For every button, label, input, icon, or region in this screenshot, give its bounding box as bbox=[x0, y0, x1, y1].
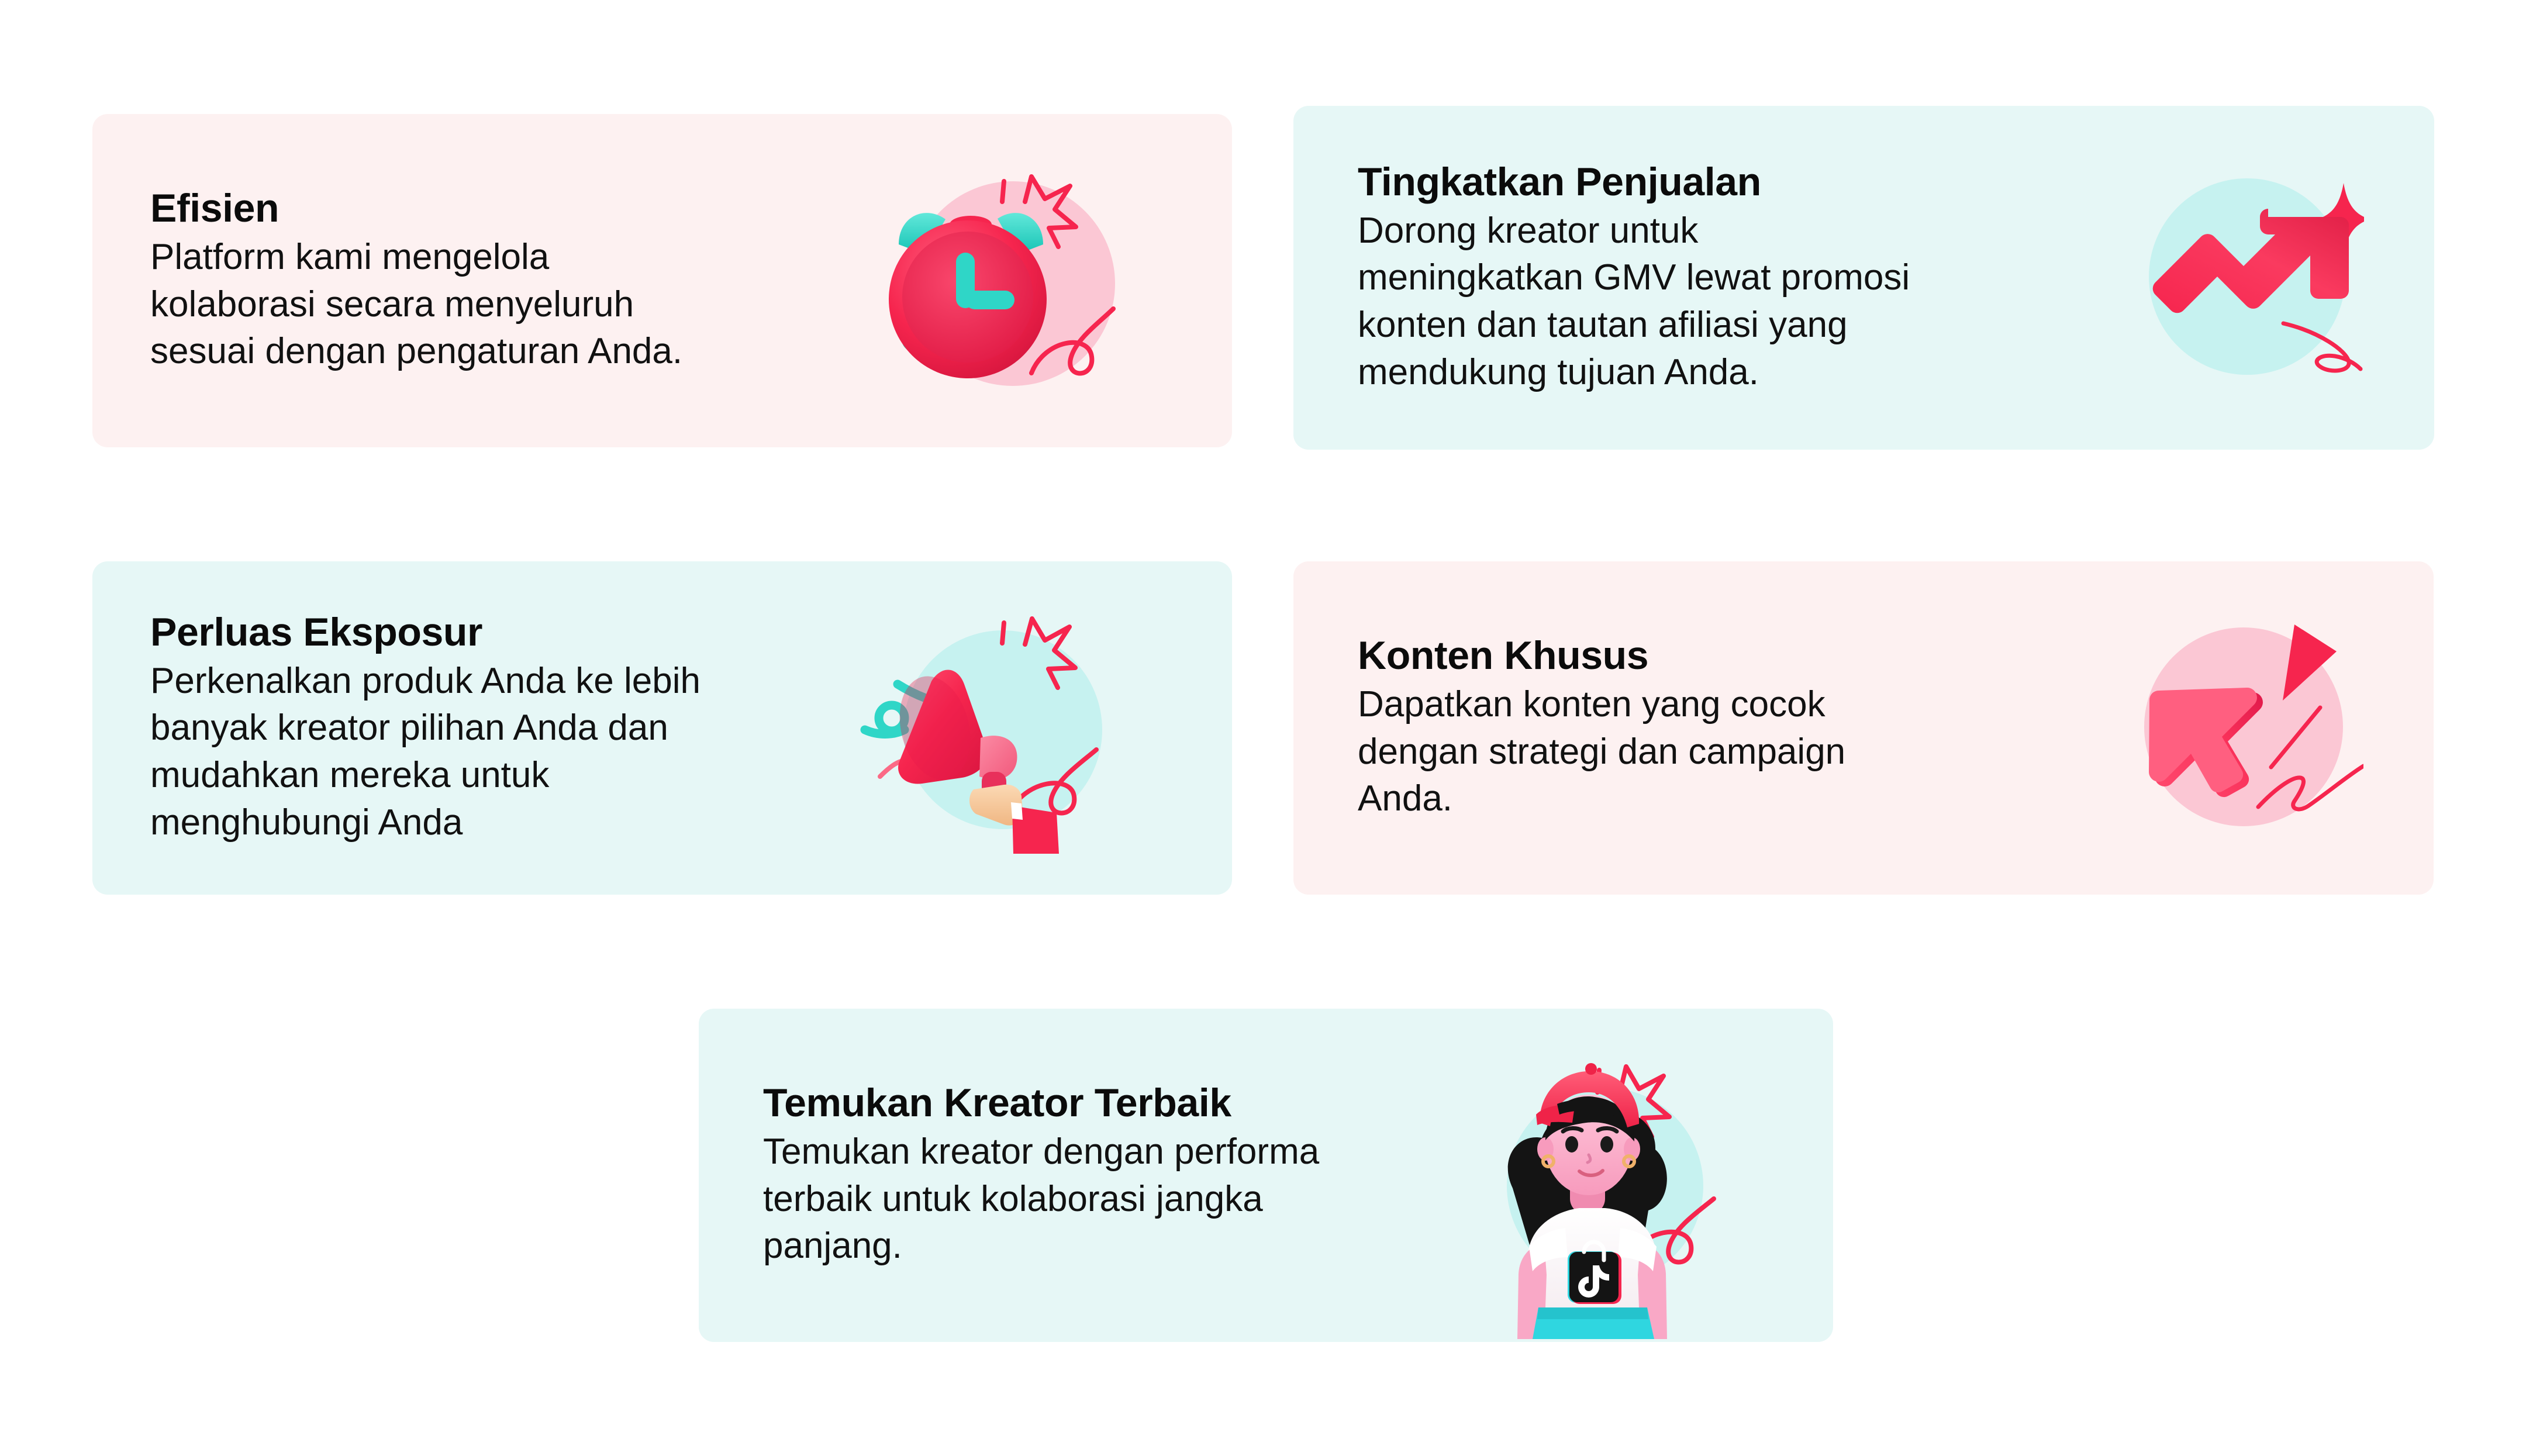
alarm-clock-icon bbox=[843, 146, 1136, 415]
feature-card-temukan-kreator-terbaik[interactable]: Temukan Kreator Terbaik Temukan kreator … bbox=[699, 1009, 1833, 1342]
card-title: Tingkatkan Penjualan bbox=[1358, 160, 2077, 204]
card-title: Efisien bbox=[150, 186, 840, 230]
card-description: Perkenalkan produk Anda ke lebih banyak … bbox=[150, 658, 852, 846]
card-text-block: Efisien Platform kami mengelola kolabora… bbox=[150, 186, 840, 375]
card-description: Dapatkan konten yang cocok dengan strate… bbox=[1358, 681, 2030, 823]
card-title: Konten Khusus bbox=[1358, 633, 2030, 678]
cursor-arrow-icon bbox=[2112, 607, 2363, 841]
growth-arrow-icon bbox=[2113, 153, 2364, 387]
feature-card-konten-khusus[interactable]: Konten Khusus Dapatkan konten yang cocok… bbox=[1293, 561, 2434, 895]
feature-card-grid: Efisien Platform kami mengelola kolabora… bbox=[0, 0, 2526, 1456]
card-text-block: Konten Khusus Dapatkan konten yang cocok… bbox=[1358, 633, 2030, 823]
creator-avatar-icon bbox=[1430, 1029, 1757, 1339]
card-text-block: Tingkatkan Penjualan Dorong kreator untu… bbox=[1358, 160, 2077, 396]
feature-card-efisien[interactable]: Efisien Platform kami mengelola kolabora… bbox=[92, 114, 1232, 447]
card-description: Platform kami mengelola kolaborasi secar… bbox=[150, 234, 840, 375]
card-description: Temukan kreator dengan performa terbaik … bbox=[763, 1129, 1465, 1270]
megaphone-icon bbox=[811, 579, 1138, 854]
feature-card-perluas-eksposur[interactable]: Perluas Eksposur Perkenalkan produk Anda… bbox=[92, 561, 1232, 895]
card-text-block: Temukan Kreator Terbaik Temukan kreator … bbox=[763, 1081, 1465, 1270]
card-title: Perluas Eksposur bbox=[150, 610, 852, 654]
card-text-block: Perluas Eksposur Perkenalkan produk Anda… bbox=[150, 610, 852, 847]
card-title: Temukan Kreator Terbaik bbox=[763, 1081, 1465, 1125]
feature-card-tingkatkan-penjualan[interactable]: Tingkatkan Penjualan Dorong kreator untu… bbox=[1293, 106, 2434, 450]
card-description: Dorong kreator untuk meningkatkan GMV le… bbox=[1358, 208, 2077, 396]
